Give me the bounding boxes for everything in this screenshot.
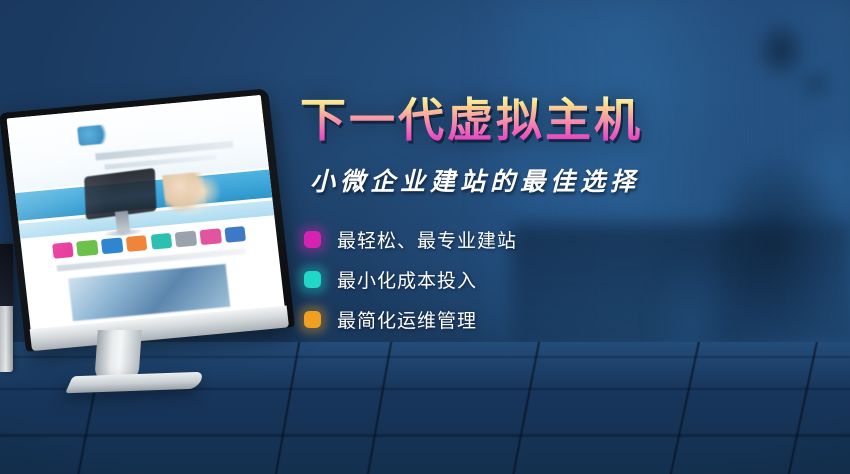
website-app-icon xyxy=(150,233,172,250)
page-subtitle: 小微企业建站的最佳选择 xyxy=(310,162,720,198)
hosting-promo-banner: 下一代虚拟主机 小微企业建站的最佳选择 最轻松、最专业建站最小化成本投入最简化运… xyxy=(0,0,850,474)
floor-grout-horizontal xyxy=(0,434,850,437)
bullet-dot-teal-icon xyxy=(304,271,321,288)
promo-copy-block: 下一代虚拟主机 小微企业建站的最佳选择 最轻松、最专业建站最小化成本投入最简化运… xyxy=(300,96,720,346)
bullet-dot-orange-icon xyxy=(304,311,321,328)
feature-label: 最小化成本投入 xyxy=(337,266,477,293)
feature-label: 最简化运维管理 xyxy=(337,306,477,333)
website-app-icon xyxy=(52,242,74,259)
website-logo xyxy=(77,124,112,146)
feature-list: 最轻松、最专业建站最小化成本投入最简化运维管理 xyxy=(300,226,720,333)
monitor-bezel xyxy=(0,88,295,351)
bullet-dot-magenta-icon xyxy=(304,231,321,248)
feature-item: 最小化成本投入 xyxy=(304,266,720,293)
feature-item: 最轻松、最专业建站 xyxy=(304,226,720,253)
website-app-icon xyxy=(76,240,98,257)
website-app-icon xyxy=(101,238,123,255)
monitor-screen xyxy=(7,95,285,331)
website-app-icon xyxy=(224,226,246,243)
page-title: 下一代虚拟主机 xyxy=(300,96,720,144)
feature-label: 最轻松、最专业建站 xyxy=(337,226,517,253)
website-app-icon xyxy=(175,231,197,248)
secondary-device-edge xyxy=(0,244,13,372)
desktop-monitor xyxy=(0,88,295,351)
website-app-icon xyxy=(126,236,148,253)
website-app-icon xyxy=(200,229,222,246)
feature-item: 最简化运维管理 xyxy=(304,306,720,333)
website-hero-portrait-2 xyxy=(188,176,222,213)
